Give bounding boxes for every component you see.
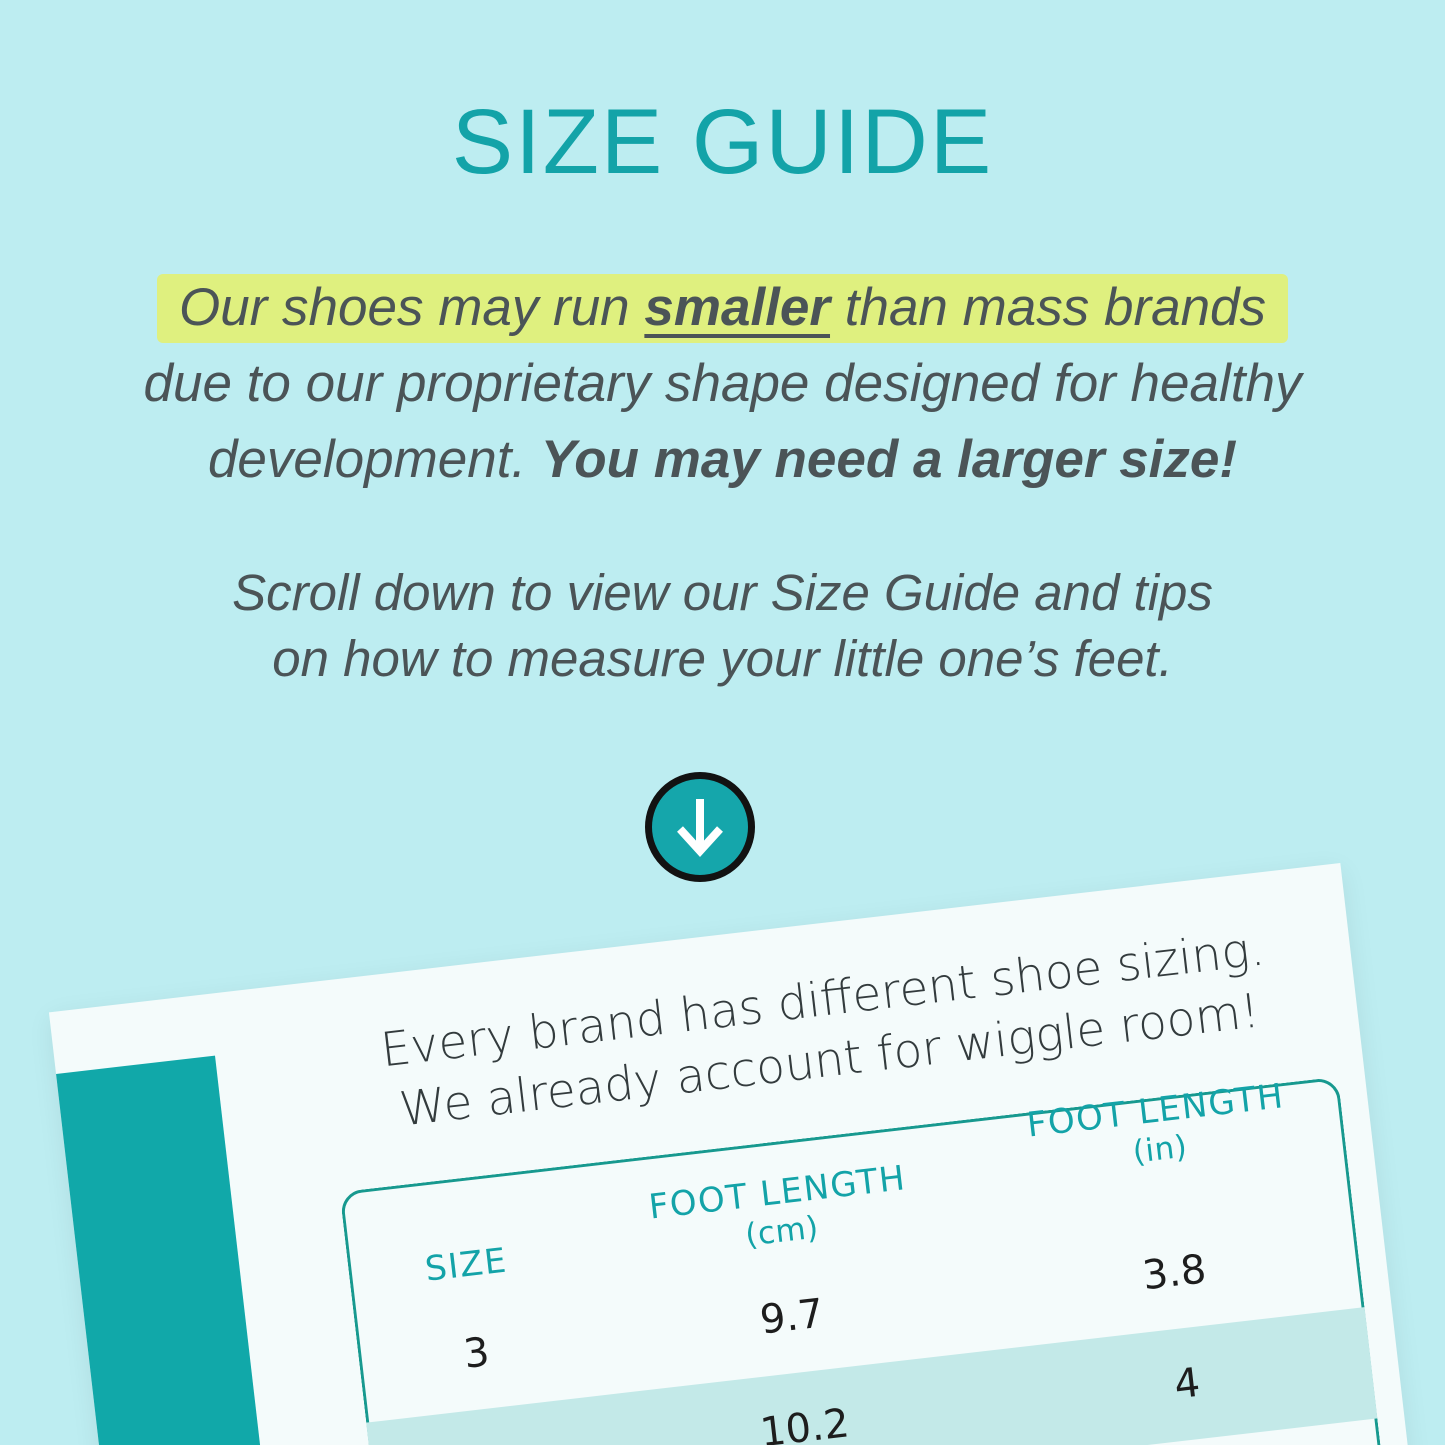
intro-line-1: Our shoes may run smaller than mass bran… [52, 272, 1393, 344]
arrow-down-icon [673, 795, 727, 859]
intro-line-1-suffix: than mass brands [830, 278, 1266, 337]
cell-in: 3.8 [988, 1229, 1361, 1317]
scroll-down-button[interactable] [645, 772, 755, 882]
intro-line-1-prefix: Our shoes may run [179, 278, 644, 337]
cell-size: 3.5 [370, 1428, 609, 1445]
cell-cm: 10.2 [603, 1382, 1006, 1445]
intro-paragraph: Our shoes may run smaller than mass bran… [0, 272, 1445, 496]
cell-cm: 9.7 [591, 1271, 994, 1363]
size-column-band: SIZE [56, 1056, 295, 1445]
scroll-prompt-line-2: on how to measure your little one’s feet… [0, 626, 1445, 692]
cell-size: 3 [357, 1317, 596, 1390]
intro-line-3: development. You may need a larger size! [52, 424, 1393, 496]
table-header-size-label: SIZE [423, 1240, 509, 1289]
size-table: SIZE FOOT LENGTH (cm) FOOT LENGTH (in) 3… [340, 1077, 1401, 1445]
size-chart-card: SIZE Every brand has different shoe sizi… [49, 863, 1428, 1445]
scroll-prompt-line-1: Scroll down to view our Size Guide and t… [0, 560, 1445, 626]
size-chart-card-wrapper: SIZE Every brand has different shoe sizi… [49, 853, 1445, 1445]
size-guide-page: SIZE GUIDE Our shoes may run smaller tha… [0, 0, 1445, 1445]
intro-line-3-bold: You may need a larger size! [541, 430, 1237, 489]
table-header-foot-length-in: FOOT LENGTH (in) [969, 1069, 1346, 1190]
cell-in: 4 [1001, 1340, 1374, 1428]
page-title: SIZE GUIDE [0, 96, 1445, 188]
scroll-prompt: Scroll down to view our Size Guide and t… [0, 560, 1445, 693]
intro-line-2: due to our proprietary shape designed fo… [52, 348, 1393, 420]
intro-emphasis-smaller: smaller [644, 278, 830, 337]
intro-line-3-normal: development. [208, 430, 541, 489]
